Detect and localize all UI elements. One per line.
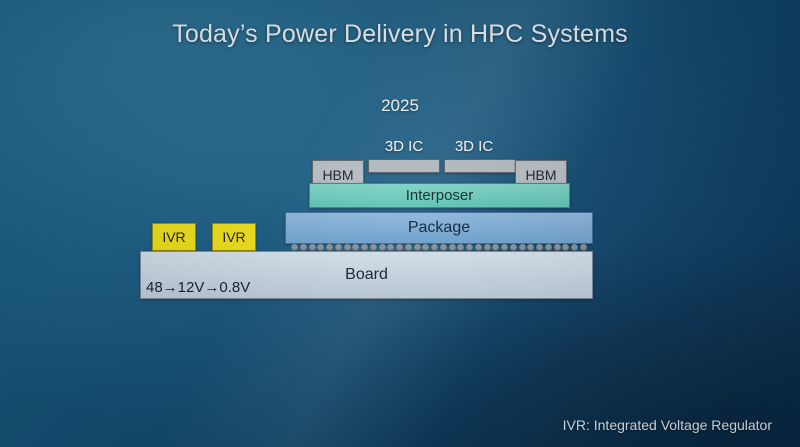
ivr-right-block: IVR — [212, 223, 256, 251]
footnote-text: IVR: Integrated Voltage Regulator — [563, 417, 772, 433]
power-delivery-diagram: 3D IC 3D IC HBM HBM Interposer Package I… — [0, 0, 800, 447]
package-block: Package — [285, 212, 593, 244]
die-left-bar — [368, 159, 440, 173]
ivr-left-block: IVR — [152, 223, 196, 251]
interposer-block: Interposer — [309, 183, 570, 208]
die-right-label: 3D IC — [438, 138, 510, 155]
voltage-chain-label: 48→12V→0.8V — [146, 279, 250, 296]
slide-canvas: Today’s Power Delivery in HPC Systems 20… — [0, 0, 800, 447]
die-right-bar — [444, 159, 516, 173]
die-left-label: 3D IC — [368, 138, 440, 155]
